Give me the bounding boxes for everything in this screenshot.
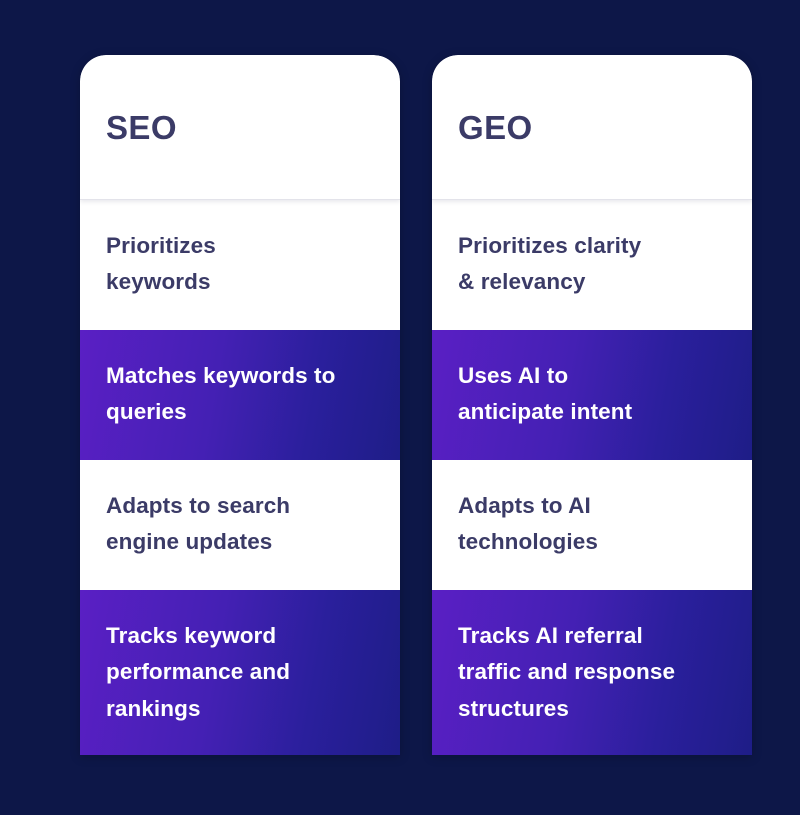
comparison-row-text: Matches keywords to queries: [106, 358, 335, 431]
seo-geo-comparison-board: SEO Prioritizes keywords Matches keyword…: [0, 0, 800, 815]
comparison-row-seo-3: Adapts to search engine updates: [80, 460, 400, 590]
comparison-row-geo-2: Uses AI to anticipate intent: [432, 330, 752, 460]
comparison-row-geo-3: Adapts to AI technologies: [432, 460, 752, 590]
comparison-column-seo: SEO Prioritizes keywords Matches keyword…: [80, 55, 400, 755]
column-rows-geo: Prioritizes clarity & relevancy Uses AI …: [432, 200, 752, 755]
comparison-row-text: Uses AI to anticipate intent: [458, 358, 632, 431]
comparison-row-seo-4: Tracks keyword performance and rankings: [80, 590, 400, 755]
comparison-row-seo-1: Prioritizes keywords: [80, 200, 400, 330]
comparison-row-text: Adapts to AI technologies: [458, 488, 598, 561]
comparison-row-text: Prioritizes keywords: [106, 228, 216, 301]
comparison-row-text: Adapts to search engine updates: [106, 488, 290, 561]
column-header-seo: SEO: [80, 55, 400, 200]
comparison-row-geo-4: Tracks AI referral traffic and response …: [432, 590, 752, 755]
column-title-geo: GEO: [458, 111, 533, 144]
comparison-row-text: Tracks AI referral traffic and response …: [458, 618, 675, 727]
column-header-geo: GEO: [432, 55, 752, 200]
comparison-row-geo-1: Prioritizes clarity & relevancy: [432, 200, 752, 330]
comparison-column-geo: GEO Prioritizes clarity & relevancy Uses…: [432, 55, 752, 755]
column-rows-seo: Prioritizes keywords Matches keywords to…: [80, 200, 400, 755]
column-title-seo: SEO: [106, 111, 177, 144]
comparison-row-seo-2: Matches keywords to queries: [80, 330, 400, 460]
comparison-row-text: Tracks keyword performance and rankings: [106, 618, 290, 727]
comparison-row-text: Prioritizes clarity & relevancy: [458, 228, 641, 301]
